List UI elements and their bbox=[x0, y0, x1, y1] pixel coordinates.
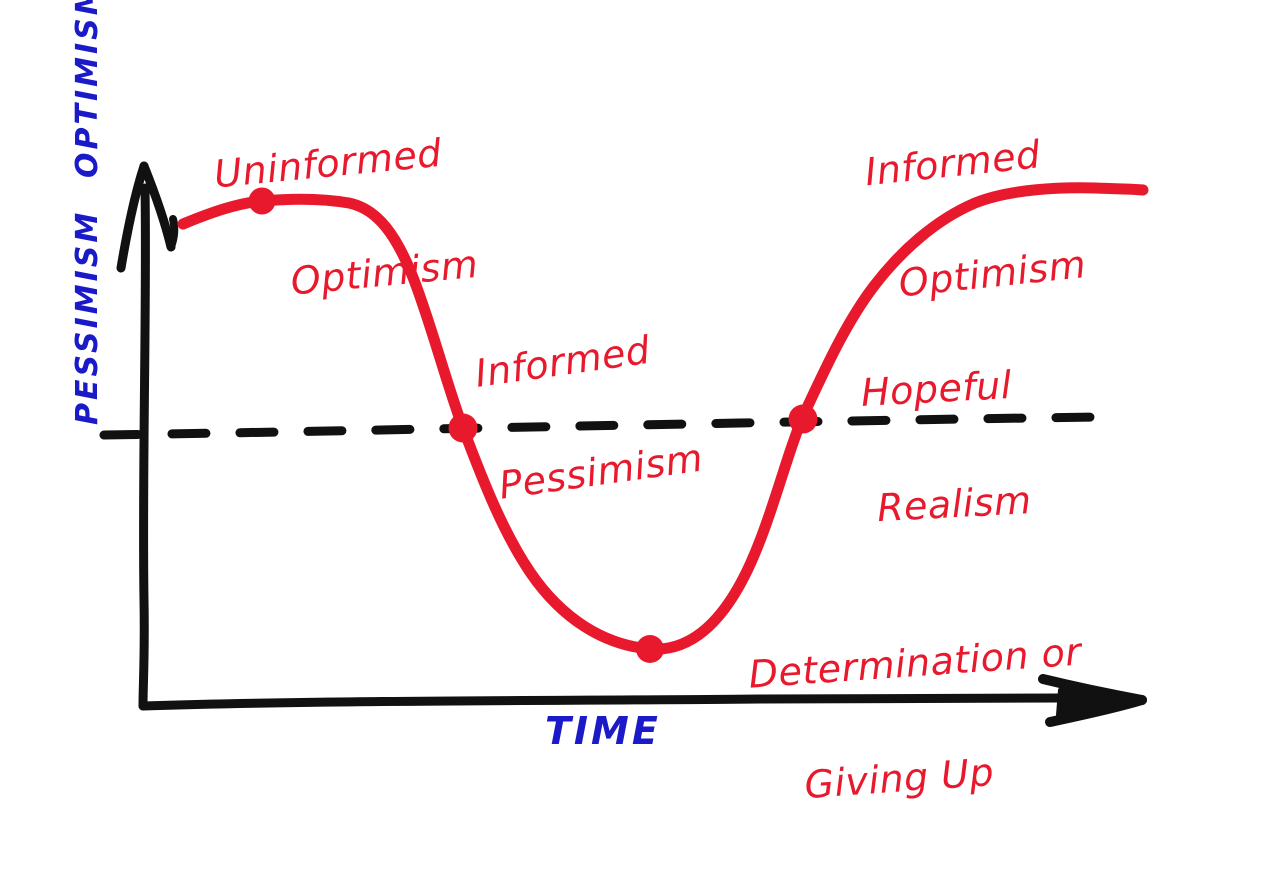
y-axis-line bbox=[143, 188, 145, 706]
annotation-hopeful-realism: Hopeful Realism bbox=[856, 287, 1036, 605]
data-point-hopeful-realism bbox=[789, 405, 818, 434]
annotation-line-1: Informed bbox=[473, 325, 690, 393]
annotation-line-2: Realism bbox=[876, 481, 1032, 528]
annotation-line-2: Pessimism bbox=[497, 438, 706, 505]
arrow-up-icon bbox=[121, 166, 144, 268]
annotation-uninformed-optimism: Uninformed Optimism bbox=[205, 54, 487, 385]
annotation-informed-pessimism: Informed Pessimism bbox=[462, 248, 716, 583]
annotation-line-2: Giving Up bbox=[803, 746, 1090, 805]
annotation-line-1: Determination or bbox=[747, 632, 1082, 694]
x-axis-label-time: TIME bbox=[545, 712, 661, 751]
annotation-determination-or-giving-up: Determination or Giving Up bbox=[742, 555, 1096, 885]
data-point-determination bbox=[636, 635, 664, 663]
annotation-line-1: Uninformed bbox=[212, 131, 468, 194]
y-axis-label-optimism: OPTIMISM bbox=[73, 0, 104, 178]
annotation-line-2: Optimism bbox=[289, 245, 480, 302]
chart-canvas: Uninformed Optimism Informed Pessimism I… bbox=[0, 0, 1270, 843]
arrow-up-icon-flick bbox=[171, 219, 174, 247]
data-point-informed-pessimism bbox=[449, 414, 478, 443]
y-axis-label-pessimism: PESSIMISM bbox=[73, 210, 104, 425]
annotation-line-1: Informed bbox=[863, 131, 1076, 191]
annotation-line-1: Hopeful bbox=[860, 365, 1026, 412]
